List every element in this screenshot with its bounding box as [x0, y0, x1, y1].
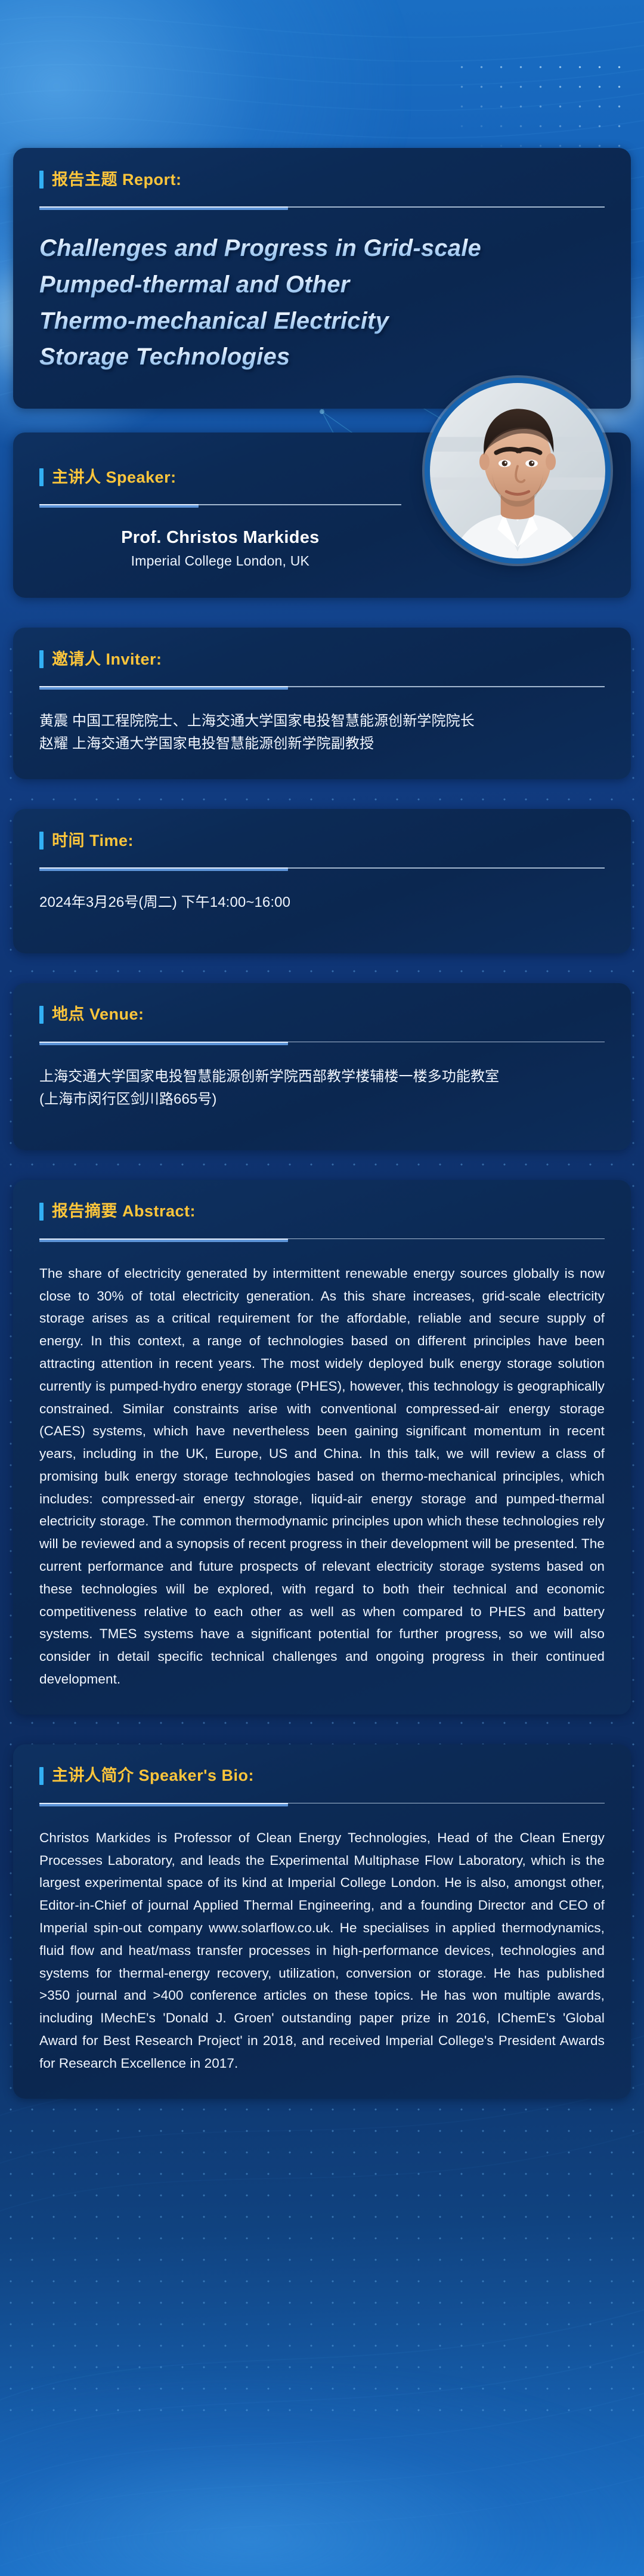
section-label-text: 时间 Time: [52, 833, 134, 849]
report-title-line: Storage Technologies [39, 339, 605, 375]
section-label-text: 地点 Venue: [52, 1006, 144, 1023]
section-label-venue: 地点 Venue: [39, 1006, 605, 1024]
speaker-portrait-avatar [425, 378, 611, 564]
section-divider [39, 504, 401, 508]
section-label-text: 邀请人 Inviter: [52, 651, 162, 668]
section-divider [39, 1238, 605, 1242]
report-title-line: Challenges and Progress in Grid-scale [39, 230, 605, 267]
report-title: Challenges and Progress in Grid-scale Pu… [39, 230, 605, 375]
bio-text: Christos Markides is Professor of Clean … [39, 1827, 605, 2075]
venue-line: 上海交通大学国家电投智慧能源创新学院西部教学楼辅楼一楼多功能教室 [39, 1065, 605, 1088]
accent-bar-icon [39, 468, 44, 486]
section-label-bio: 主讲人简介 Speaker's Bio: [39, 1767, 605, 1785]
card-abstract: 报告摘要 Abstract: The share of electricity … [13, 1180, 631, 1715]
section-divider [39, 1042, 605, 1045]
section-label-report: 报告主题 Report: [39, 171, 605, 189]
card-inviter: 邀请人 Inviter: 黄震 中国工程院院士、上海交通大学国家电投智慧能源创新… [13, 628, 631, 779]
section-divider [39, 686, 605, 690]
card-speaker-bio: 主讲人简介 Speaker's Bio: Christos Markides i… [13, 1744, 631, 2099]
section-label-inviter: 邀请人 Inviter: [39, 650, 605, 668]
report-title-line: Pumped-thermal and Other [39, 267, 605, 303]
section-label-abstract: 报告摘要 Abstract: [39, 1203, 605, 1221]
card-time: 时间 Time: 2024年3月26号(周二) 下午14:00~16:00 [13, 809, 631, 953]
report-title-line: Thermo-mechanical Electricity [39, 303, 605, 339]
abstract-text: The share of electricity generated by in… [39, 1262, 605, 1691]
section-label-text: 主讲人 Speaker: [52, 470, 177, 486]
card-report: 报告主题 Report: Challenges and Progress in … [13, 148, 631, 409]
accent-bar-icon [39, 1006, 44, 1024]
poster-content: 报告主题 Report: Challenges and Progress in … [0, 0, 644, 2156]
section-divider [39, 1803, 605, 1806]
speaker-affiliation: Imperial College London, UK [39, 553, 401, 569]
time-value: 2024年3月26号(周二) 下午14:00~16:00 [39, 891, 605, 914]
section-label-text: 报告摘要 Abstract: [52, 1203, 196, 1219]
accent-bar-icon [39, 1203, 44, 1221]
card-speaker: 主讲人 Speaker: Prof. Christos Markides Imp… [13, 433, 631, 598]
accent-bar-icon [39, 832, 44, 850]
section-label-text: 报告主题 Report: [52, 172, 182, 188]
inviter-line: 黄震 中国工程院院士、上海交通大学国家电投智慧能源创新学院院长 [39, 710, 605, 733]
section-label-text: 主讲人简介 Speaker's Bio: [52, 1768, 254, 1784]
accent-bar-icon [39, 650, 44, 668]
accent-bar-icon [39, 1767, 44, 1785]
section-label-time: 时间 Time: [39, 832, 605, 850]
venue-line: (上海市闵行区剑川路665号) [39, 1088, 605, 1111]
card-venue: 地点 Venue: 上海交通大学国家电投智慧能源创新学院西部教学楼辅楼一楼多功能… [13, 983, 631, 1150]
speaker-name: Prof. Christos Markides [39, 528, 401, 548]
inviter-line: 赵耀 上海交通大学国家电投智慧能源创新学院副教授 [39, 733, 605, 755]
section-divider [39, 206, 605, 210]
seminar-poster: 报告主题 Report: Challenges and Progress in … [0, 0, 644, 2576]
section-divider [39, 867, 605, 871]
speaker-details: Prof. Christos Markides Imperial College… [39, 528, 401, 569]
accent-bar-icon [39, 171, 44, 189]
